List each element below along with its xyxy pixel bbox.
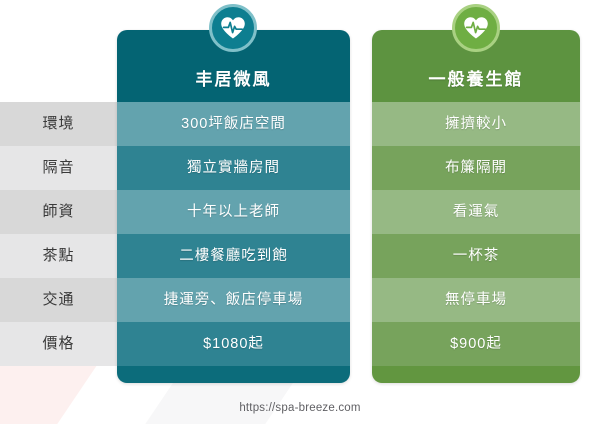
cell-green-price: $900起 — [372, 322, 580, 366]
comparison-card-feng-ju-wei-feng[interactable]: 丰居微風 300坪飯店空間 獨立實牆房間 十年以上老師 二樓餐廳吃到飽 捷運旁、… — [117, 30, 350, 383]
cell-teal-price: $1080起 — [117, 322, 350, 366]
cell-teal-transport: 捷運旁、飯店停車場 — [117, 278, 350, 322]
card-footer-teal — [117, 366, 350, 383]
comparison-card-general-spa[interactable]: 一般養生館 擁擠較小 布簾隔開 看運氣 一杯茶 無停車場 $900起 — [372, 30, 580, 383]
cell-green-soundproof: 布簾隔開 — [372, 146, 580, 190]
cell-green-transport: 無停車場 — [372, 278, 580, 322]
cell-green-refreshments: 一杯茶 — [372, 234, 580, 278]
footer-website-url: https://spa-breeze.com — [0, 402, 600, 414]
row-label-transport: 交通 — [0, 278, 117, 322]
heart-pulse-icon — [452, 4, 500, 52]
card-footer-green — [372, 366, 580, 383]
cell-green-environment: 擁擠較小 — [372, 102, 580, 146]
cell-green-teachers: 看運氣 — [372, 190, 580, 234]
row-label-environment: 環境 — [0, 102, 117, 146]
row-label-refreshments: 茶點 — [0, 234, 117, 278]
card-title-teal: 丰居微風 — [196, 65, 272, 90]
comparison-infographic: 環境 隔音 師資 茶點 交通 價格 丰居微風 300坪飯店空間 獨立實牆房間 十… — [0, 0, 600, 424]
row-label-soundproof: 隔音 — [0, 146, 117, 190]
row-label-price: 價格 — [0, 322, 117, 366]
cell-teal-teachers: 十年以上老師 — [117, 190, 350, 234]
row-label-column: 環境 隔音 師資 茶點 交通 價格 — [0, 102, 117, 366]
heart-pulse-icon — [209, 4, 257, 52]
cell-teal-soundproof: 獨立實牆房間 — [117, 146, 350, 190]
cell-teal-refreshments: 二樓餐廳吃到飽 — [117, 234, 350, 278]
row-label-teachers: 師資 — [0, 190, 117, 234]
cell-teal-environment: 300坪飯店空間 — [117, 102, 350, 146]
card-title-green: 一般養生館 — [429, 65, 524, 90]
